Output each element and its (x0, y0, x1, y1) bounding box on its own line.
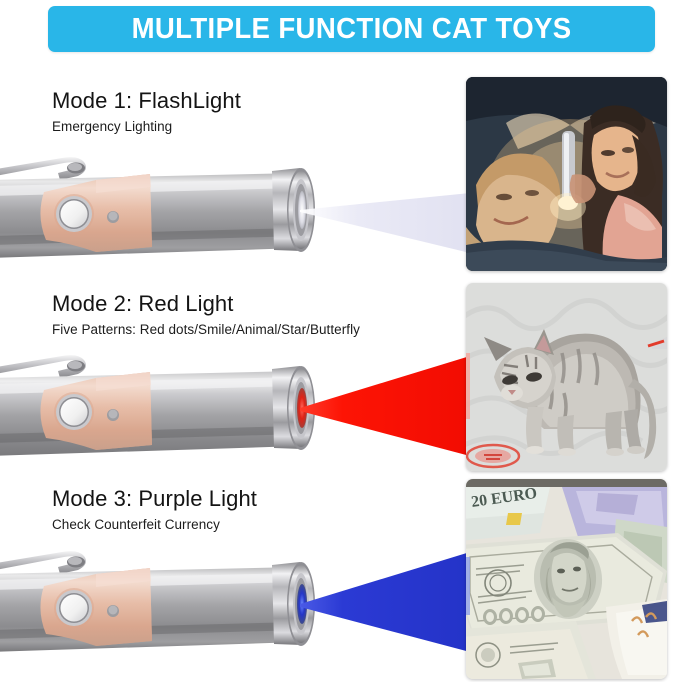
mode-2-subtitle: Five Patterns: Red dots/Smile/Animal/Sta… (52, 322, 360, 337)
header-banner: MULTIPLE FUNCTION CAT TOYS (48, 6, 655, 52)
power-button (61, 201, 88, 228)
red-laser-beam (300, 352, 470, 462)
purple-uv-beam (300, 548, 470, 658)
mode-2-title: Mode 2: Red Light (52, 291, 233, 317)
power-button (61, 399, 88, 426)
infographic-page: MULTIPLE FUNCTION CAT TOYS Mode 1: Flash… (0, 0, 679, 682)
children-under-blanket-photo (466, 77, 667, 271)
white-flashlight-beam (300, 193, 470, 253)
kitten-chasing-red-dot-photo (466, 283, 667, 471)
mode-3-title: Mode 3: Purple Light (52, 486, 257, 512)
banknotes-currency-photo: 20 EURO (466, 479, 667, 679)
mode-1-subtitle: Emergency Lighting (52, 119, 172, 134)
power-button (61, 595, 88, 622)
mode-1-title: Mode 1: FlashLight (52, 88, 241, 114)
mode-3-subtitle: Check Counterfeit Currency (52, 517, 220, 532)
page-title: MULTIPLE FUNCTION CAT TOYS (132, 13, 572, 46)
